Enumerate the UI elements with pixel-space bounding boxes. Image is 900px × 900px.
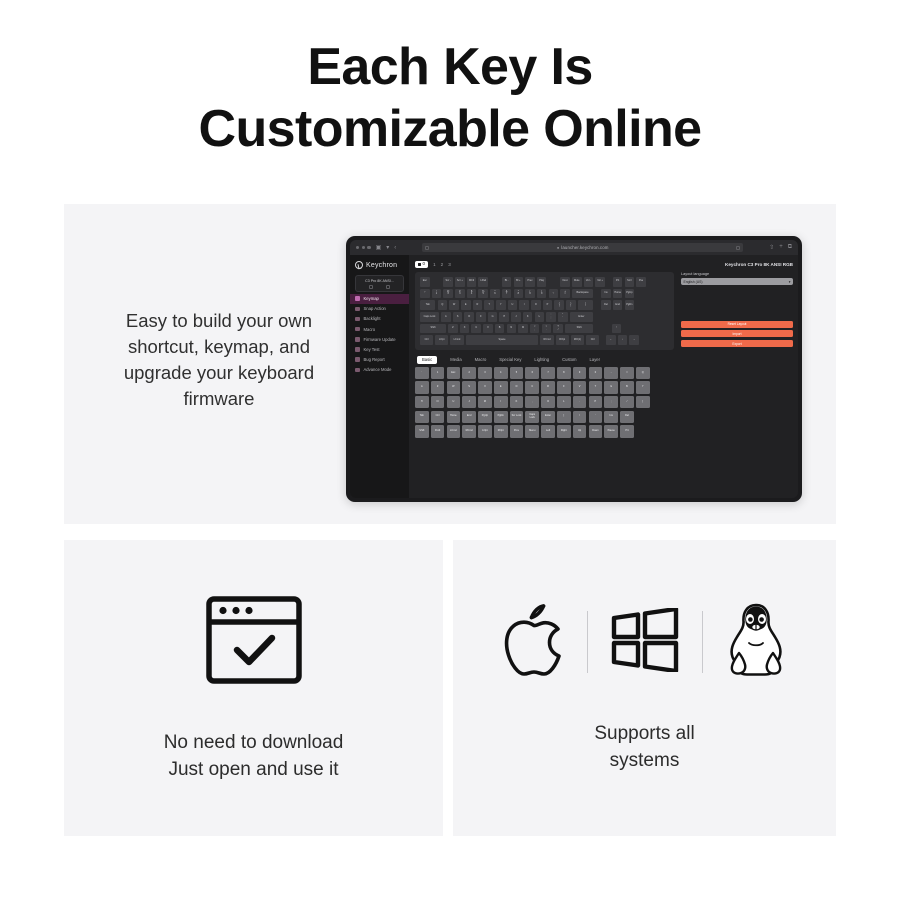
keyboard-row: CtrlLOptLCmdSpaceRCmdROptMO(1)Ctrl←↓→ [420, 335, 669, 345]
keycap[interactable]: Mute [572, 277, 582, 287]
bluetooth-icon[interactable] [386, 285, 390, 289]
keycap[interactable]: G [488, 312, 498, 322]
keycap[interactable]: Shift [420, 324, 446, 334]
tab-custom[interactable]: Custom [562, 357, 576, 362]
minimize-icon[interactable] [362, 246, 365, 249]
keycap[interactable]: F [476, 312, 486, 322]
key-pool-item[interactable]: Del [620, 411, 634, 423]
sidebar-item-macro[interactable]: Macro [350, 324, 409, 334]
back-arrow-icon[interactable]: ‹ [394, 245, 396, 251]
keycap[interactable]: | \ [578, 300, 593, 310]
key-pool-item[interactable]: X [478, 381, 492, 393]
key-pool-item[interactable]: A [415, 381, 429, 393]
key-pool-item[interactable]: Ctrl [431, 411, 445, 423]
keycap[interactable]: Scr + [455, 277, 465, 287]
keycap[interactable]: : ; [546, 312, 556, 322]
key-pool-item[interactable]: 2 [462, 367, 476, 379]
keycap[interactable]: < , [530, 324, 540, 334]
sidebar-item-label: Keymap [364, 296, 379, 301]
key-pool-item[interactable]: V [573, 381, 587, 393]
tab-lighting[interactable]: Lighting [534, 357, 549, 362]
layer-tab-3[interactable]: 3 [448, 262, 451, 267]
keycap[interactable]: Del [601, 300, 611, 310]
keyboard-visual[interactable]: EscScr -Scr +MCtlLPadBl -Bl +PrevPlayNex… [415, 272, 674, 350]
tab-macro[interactable]: Macro [475, 357, 487, 362]
keycap[interactable]: Caps Lock [420, 312, 439, 322]
advance-mode-icon [355, 368, 360, 373]
keycap[interactable]: { [ [554, 300, 564, 310]
keycap[interactable]: > . [542, 324, 552, 334]
keycap[interactable]: RCmd [540, 335, 553, 345]
keycap[interactable]: J [511, 312, 521, 322]
maximize-icon[interactable] [367, 246, 370, 249]
keycap[interactable]: ^ 6 [490, 289, 500, 299]
browser-actions: ⇧ + ⧉ [769, 244, 792, 251]
keycap[interactable]: Space [466, 335, 539, 345]
key-pool-item[interactable]: 1 [431, 367, 445, 379]
keycap[interactable]: M [518, 324, 528, 334]
keycap[interactable]: Scr - [443, 277, 453, 287]
key-pool-item[interactable]: B [620, 381, 634, 393]
key-pool-item[interactable]: R [541, 381, 555, 393]
windows-logo-icon [610, 608, 680, 677]
keycap[interactable]: Home [613, 289, 623, 299]
keycap[interactable]: @ 2 [443, 289, 453, 299]
key-pool-item[interactable]: Pause [604, 425, 618, 437]
sidebar-item-label: Backlight [364, 316, 381, 321]
keycap[interactable]: LPad [478, 277, 488, 287]
keymap-icon [355, 296, 360, 301]
key-pool-item[interactable]: . [573, 396, 587, 408]
url-text: launcher.keychron.com [561, 245, 608, 250]
layer-tab-2[interactable]: 2 [441, 262, 444, 267]
keycap[interactable]: K [523, 312, 533, 322]
keyboard-gap [595, 300, 599, 310]
key-pool-item[interactable]: G [604, 381, 618, 393]
layout-language-label: Layout language [681, 272, 793, 276]
backlight-icon [355, 317, 360, 322]
snap-action-icon [355, 307, 360, 312]
keycap[interactable]: LOpt [435, 335, 448, 345]
sidebar-item-advance-mode[interactable]: Advance Mode [350, 365, 409, 375]
sidebar-item-firmware-update[interactable]: Firmware Update [350, 334, 409, 344]
keyboard-options-panel: Layout language English (US) ▾ Reset Lay… [679, 272, 793, 350]
headline-line-1: Each Key Is [307, 38, 592, 96]
layer-indicator-icon [418, 263, 421, 266]
keycap[interactable]: V [483, 324, 493, 334]
key-pool-item[interactable]: Shift [415, 425, 429, 437]
tab-special-key[interactable]: Special Key [499, 357, 521, 362]
keycap[interactable]: Bl - [502, 277, 512, 287]
lock-icon: ● [557, 245, 559, 250]
firmware-update-icon [355, 337, 360, 342]
layout-language-select[interactable]: English (US) ▾ [681, 278, 793, 285]
logo-divider [702, 611, 703, 673]
keycap[interactable]: Next [560, 277, 570, 287]
key-pool: `1Esc234567890-=QAZWSXEDCRFVTGBYHNUJMIK,… [415, 367, 793, 442]
device-actions [356, 283, 403, 290]
key-pool-row: TabCtrlHomeEndPgUpPgDnScr LockCaps LockE… [415, 411, 793, 423]
tab-basic[interactable]: Basic [417, 356, 437, 364]
sidebar-item-label: Advance Mode [364, 367, 392, 372]
keycap[interactable]: S [453, 312, 463, 322]
keycap[interactable]: PgUp [625, 289, 635, 299]
keyboard-feature-card: Easy to build your own shortcut, keymap,… [64, 204, 836, 524]
keycap[interactable]: } ] [566, 300, 576, 310]
keycap[interactable]: N [507, 324, 517, 334]
keycap[interactable]: ROpt [556, 335, 569, 345]
keycap[interactable]: Q [438, 300, 448, 310]
sidebar-item-label: Firmware Update [364, 337, 396, 342]
browser-window: ▣ ▾ ‹ ● launcher.keychron.com ⇧ + ⧉ [350, 240, 798, 498]
key-pool-item[interactable]: L [557, 396, 571, 408]
import-button[interactable]: Import [681, 330, 793, 337]
key-pool-item[interactable]: PgUp [478, 411, 492, 423]
logo-divider [587, 611, 588, 673]
refresh-icon[interactable] [736, 246, 740, 250]
launcher-app: Keychron C3 Pro 8K ANSI... KeymapSnap Ac… [350, 255, 798, 498]
key-pool-item[interactable]: S [462, 381, 476, 393]
keyboard-row: ~ `! 1@ 2# 3$ 4% 5^ 6& 7* 8( 9) 0_ -+ =B… [420, 289, 669, 299]
keycap[interactable]: Backspace [572, 289, 593, 299]
keycap[interactable]: Enter [570, 312, 594, 322]
app-topbar: 0123 Keychron C3 Pro 8K ANSI RGB [415, 259, 793, 270]
key-pool-item[interactable]: ' [589, 411, 603, 423]
key-pool-item[interactable]: 3 [478, 367, 492, 379]
keyboard-row: ShiftZXCVBNM< ,> .? /Shift↑ [420, 324, 669, 334]
key-pool-item[interactable]: 4 [494, 367, 508, 379]
sidebar-item-label: Macro [364, 327, 376, 332]
layer-tabs: 0123 [415, 261, 451, 269]
linux-tux-icon [725, 603, 787, 682]
key-pool-item[interactable]: Q [636, 367, 650, 379]
sidebar-item-backlight[interactable]: Backlight [350, 314, 409, 324]
key-pool-item[interactable]: ROpt [494, 425, 508, 437]
key-pool-row: `1Esc234567890-=Q [415, 367, 793, 379]
app-main: 0123 Keychron C3 Pro 8K ANSI RGB EscScr … [409, 255, 798, 498]
keycap[interactable]: L [535, 312, 545, 322]
key-pool-item[interactable]: Enter [541, 411, 555, 423]
key-pool-item[interactable]: 6 [525, 367, 539, 379]
key-pool-item[interactable]: Prev [510, 425, 524, 437]
keyboard-gap [595, 289, 599, 299]
key-pool-item[interactable]: Prt [620, 425, 634, 437]
key-pool-item[interactable]: Left [541, 425, 555, 437]
keycap[interactable]: P [543, 300, 553, 310]
keycap[interactable]: ? / [553, 324, 563, 334]
key-pool-item[interactable]: Scr Lock [510, 411, 524, 423]
keycap[interactable]: ~ ` [420, 289, 430, 299]
keycap[interactable]: Pse [636, 277, 646, 287]
keycap[interactable]: ↓ [618, 335, 628, 345]
layer-tab-0[interactable]: 0 [415, 261, 428, 269]
key-pool-item[interactable]: 9 [573, 367, 587, 379]
key-pool-item[interactable]: D [510, 381, 524, 393]
key-pool-row: ShiftR AltLCmdRCmdLOptROptPrevMenuLeftRi… [415, 425, 793, 437]
sidebar-item-label: Snap Action [364, 306, 386, 311]
layer-tab-1[interactable]: 1 [433, 262, 436, 267]
key-pool-item[interactable]: Caps Lock [525, 411, 539, 423]
keycap[interactable]: R [473, 300, 483, 310]
keycap[interactable]: # 3 [455, 289, 465, 299]
key-pool-item[interactable]: LOpt [478, 425, 492, 437]
key-pool-item[interactable]: [ [636, 396, 650, 408]
key-pool-item[interactable]: 8 [557, 367, 571, 379]
close-icon[interactable] [356, 246, 359, 249]
os-logo-row [503, 603, 787, 682]
share-icon[interactable]: ⇧ [769, 244, 774, 251]
layer-tab-label: 0 [423, 262, 426, 267]
key-pool-item[interactable]: M [478, 396, 492, 408]
keycap[interactable]: T [484, 300, 494, 310]
keyboard-gap [607, 277, 611, 287]
sidebar-item-label: Key Test [364, 347, 380, 352]
device-selector[interactable]: C3 Pro 8K ANSI... [355, 275, 404, 292]
keycap[interactable]: W [449, 300, 459, 310]
keychron-logo-icon [355, 261, 363, 269]
page-title: Each Key Is Customizable Online [0, 36, 900, 160]
keycap[interactable]: LCmd [450, 335, 463, 345]
keyboard-title: Keychron C3 Pro 8K ANSI RGB [725, 262, 793, 267]
keyboard-gap [595, 324, 609, 334]
keycap[interactable]: Prt [613, 277, 623, 287]
key-pool-item[interactable]: U [447, 396, 461, 408]
key-pool-item[interactable]: N [431, 396, 445, 408]
keycap[interactable]: Ctrl [586, 335, 599, 345]
keycap[interactable]: Ins [601, 289, 611, 299]
keycap[interactable]: ↑ [612, 324, 622, 334]
keyboard-gap [490, 277, 500, 287]
keyboard-zone: EscScr -Scr +MCtlLPadBl -Bl +PrevPlayNex… [415, 272, 793, 350]
keycap[interactable]: " ' [558, 312, 568, 322]
key-pool-item[interactable]: 7 [541, 367, 555, 379]
bug-report-icon [355, 357, 360, 362]
keycap[interactable]: Esc [420, 277, 430, 287]
download-feature-card: No need to download Just open and use it [64, 540, 443, 836]
key-pool-item[interactable]: \ [573, 411, 587, 423]
keycap[interactable]: E [461, 300, 471, 310]
key-pool-item[interactable]: Up [573, 425, 587, 437]
key-pool-item[interactable]: P [589, 396, 603, 408]
key-pool-item[interactable]: / [620, 396, 634, 408]
brand-name: Keychron [366, 262, 397, 269]
tab-media[interactable]: Media [450, 357, 461, 362]
key-test-icon [355, 347, 360, 352]
keycap[interactable]: B [495, 324, 505, 334]
systems-caption-line-2: systems [594, 747, 694, 774]
keycap[interactable]: Shift [565, 324, 593, 334]
keyboard-gap [432, 277, 442, 287]
keycap[interactable]: _ - [549, 289, 559, 299]
key-pool-item[interactable]: , [525, 396, 539, 408]
keycap[interactable]: H [499, 312, 509, 322]
key-pool-item[interactable]: ] [557, 411, 571, 423]
sidebar-item-bug-report[interactable]: Bug Report [350, 355, 409, 365]
key-pool-item[interactable]: Ins [604, 411, 618, 423]
key-pool-item[interactable]: Esc [447, 367, 461, 379]
keycap[interactable]: Play [537, 277, 547, 287]
keycap[interactable]: ! 1 [432, 289, 442, 299]
headline-line-2: Customizable Online [0, 98, 900, 160]
key-pool-item[interactable]: Right [557, 425, 571, 437]
keycap[interactable]: + = [560, 289, 570, 299]
keycap[interactable]: % 5 [478, 289, 488, 299]
keycap[interactable]: D [464, 312, 474, 322]
keycap[interactable]: Y [496, 300, 506, 310]
keycap[interactable]: Scrl [625, 277, 635, 287]
key-pool-item[interactable]: C [525, 381, 539, 393]
url-input[interactable]: ● launcher.keychron.com [422, 243, 743, 252]
keycap[interactable]: & 7 [502, 289, 512, 299]
keycap[interactable]: O [531, 300, 541, 310]
keycap[interactable]: MCtl [467, 277, 477, 287]
key-pool-item[interactable]: K [510, 396, 524, 408]
keycap[interactable]: PgDn [625, 300, 635, 310]
key-pool-item[interactable]: Tab [415, 411, 429, 423]
key-pool-item[interactable]: Y [636, 381, 650, 393]
key-pool-item[interactable]: W [447, 381, 461, 393]
keycap[interactable]: End [613, 300, 623, 310]
tab-layer[interactable]: Layer [590, 357, 600, 362]
sidebar-item-snap-action[interactable]: Snap Action [350, 304, 409, 314]
keycap-category-tabs: BasicMediaMacroSpecial KeyLightingCustom… [417, 356, 793, 364]
export-button[interactable]: Export [681, 340, 793, 347]
apple-logo-icon [503, 603, 565, 682]
key-pool-item[interactable]: = [620, 367, 634, 379]
sidebar-nav: KeymapSnap ActionBacklightMacroFirmware … [350, 294, 409, 376]
keycap[interactable]: Vol - [584, 277, 594, 287]
key-pool-item[interactable]: End [462, 411, 476, 423]
keycap[interactable]: ) 0 [537, 289, 547, 299]
keyboard-row: Caps LockASDFGHJKL: ;" 'Enter [420, 312, 669, 322]
keycap[interactable]: Z [448, 324, 458, 334]
keyboard-row: TabQWERTYUIOP{ [} ]| \DelEndPgDn [420, 300, 669, 310]
laptop-mockup: ▣ ▾ ‹ ● launcher.keychron.com ⇧ + ⧉ [346, 236, 802, 502]
action-button-group: Reset LayoutImportExport [681, 321, 793, 350]
systems-caption: Supports all systems [594, 720, 694, 774]
key-pool-item[interactable]: H [415, 396, 429, 408]
key-pool-item[interactable]: LCmd [447, 425, 461, 437]
sidebar-item-key-test[interactable]: Key Test [350, 344, 409, 354]
key-pool-item[interactable]: RCmd [462, 425, 476, 437]
browser-check-icon [204, 594, 304, 691]
key-pool-item[interactable]: Menu [525, 425, 539, 437]
key-pool-row: AZWSXEDCRFVTGBY [415, 381, 793, 393]
keycap[interactable]: MO(1) [571, 335, 584, 345]
chevron-down-icon[interactable]: ▾ [386, 245, 389, 251]
key-pool-item[interactable]: 5 [510, 367, 524, 379]
sidebar-item-keymap[interactable]: Keymap [350, 294, 409, 304]
download-caption-line-1: No need to download [164, 729, 344, 756]
sidebar-item-label: Bug Report [364, 357, 385, 362]
layout-language-value: English (US) [684, 280, 703, 284]
reset-layout-button[interactable]: Reset Layout [681, 321, 793, 328]
keyboard-gap [549, 277, 559, 287]
key-pool-item[interactable]: Down [589, 425, 603, 437]
key-pool-row: HNUJMIK,OL.P;/[ [415, 396, 793, 408]
new-tab-icon[interactable]: + [779, 244, 783, 251]
promo-page: Each Key Is Customizable Online Easy to … [0, 0, 900, 900]
systems-caption-line-1: Supports all [594, 720, 694, 747]
keycap[interactable]: C [471, 324, 481, 334]
keyboard-row: EscScr -Scr +MCtlLPadBl -Bl +PrevPlayNex… [420, 277, 669, 287]
sidebar-toggle-icon[interactable]: ▣ [376, 245, 382, 251]
reader-view-icon[interactable] [425, 246, 429, 250]
key-pool-item[interactable]: ; [604, 396, 618, 408]
keycap[interactable]: Tab [420, 300, 435, 310]
tab-overview-icon[interactable]: ⧉ [788, 244, 792, 251]
key-pool-item[interactable]: 0 [589, 367, 603, 379]
keycap[interactable]: Vol + [595, 277, 605, 287]
key-pool-item[interactable]: PgDn [494, 411, 508, 423]
key-pool-item[interactable]: ` [415, 367, 429, 379]
keycap[interactable]: A [441, 312, 451, 322]
key-pool-item[interactable]: J [462, 396, 476, 408]
download-caption: No need to download Just open and use it [164, 729, 344, 783]
key-pool-item[interactable]: T [589, 381, 603, 393]
keycap[interactable]: * 8 [514, 289, 524, 299]
key-pool-item[interactable]: F [557, 381, 571, 393]
keycap[interactable]: Ctrl [420, 335, 433, 345]
keycap[interactable]: ( 9 [525, 289, 535, 299]
keycap[interactable]: I [519, 300, 529, 310]
keycap[interactable]: U [508, 300, 518, 310]
keycap[interactable]: Bl + [514, 277, 524, 287]
brand-logo: Keychron [350, 258, 409, 274]
chevron-down-icon: ▾ [789, 280, 791, 284]
key-pool-item[interactable]: R Alt [431, 425, 445, 437]
keyboard-feature-copy: Easy to build your own shortcut, keymap,… [94, 308, 344, 412]
macro-icon [355, 327, 360, 332]
key-pool-item[interactable]: E [494, 381, 508, 393]
keyboard-gap [601, 335, 604, 345]
download-caption-line-2: Just open and use it [164, 756, 344, 783]
keycap[interactable]: $ 4 [467, 289, 477, 299]
usb-icon[interactable] [369, 285, 373, 289]
keycap[interactable]: → [629, 335, 639, 345]
keycap[interactable]: ← [606, 335, 616, 345]
key-pool-item[interactable]: Home [447, 411, 461, 423]
window-controls[interactable] [356, 246, 371, 249]
keycap[interactable]: X [460, 324, 470, 334]
keycap[interactable]: Prev [525, 277, 535, 287]
key-pool-item[interactable]: I [494, 396, 508, 408]
key-pool-item[interactable]: O [541, 396, 555, 408]
key-pool-item[interactable]: Z [431, 381, 445, 393]
systems-feature-card: Supports all systems [453, 540, 836, 836]
browser-toolbar: ▣ ▾ ‹ ● launcher.keychron.com ⇧ + ⧉ [350, 240, 798, 255]
key-pool-item[interactable]: - [604, 367, 618, 379]
app-sidebar: Keychron C3 Pro 8K ANSI... KeymapSnap Ac… [350, 255, 409, 498]
